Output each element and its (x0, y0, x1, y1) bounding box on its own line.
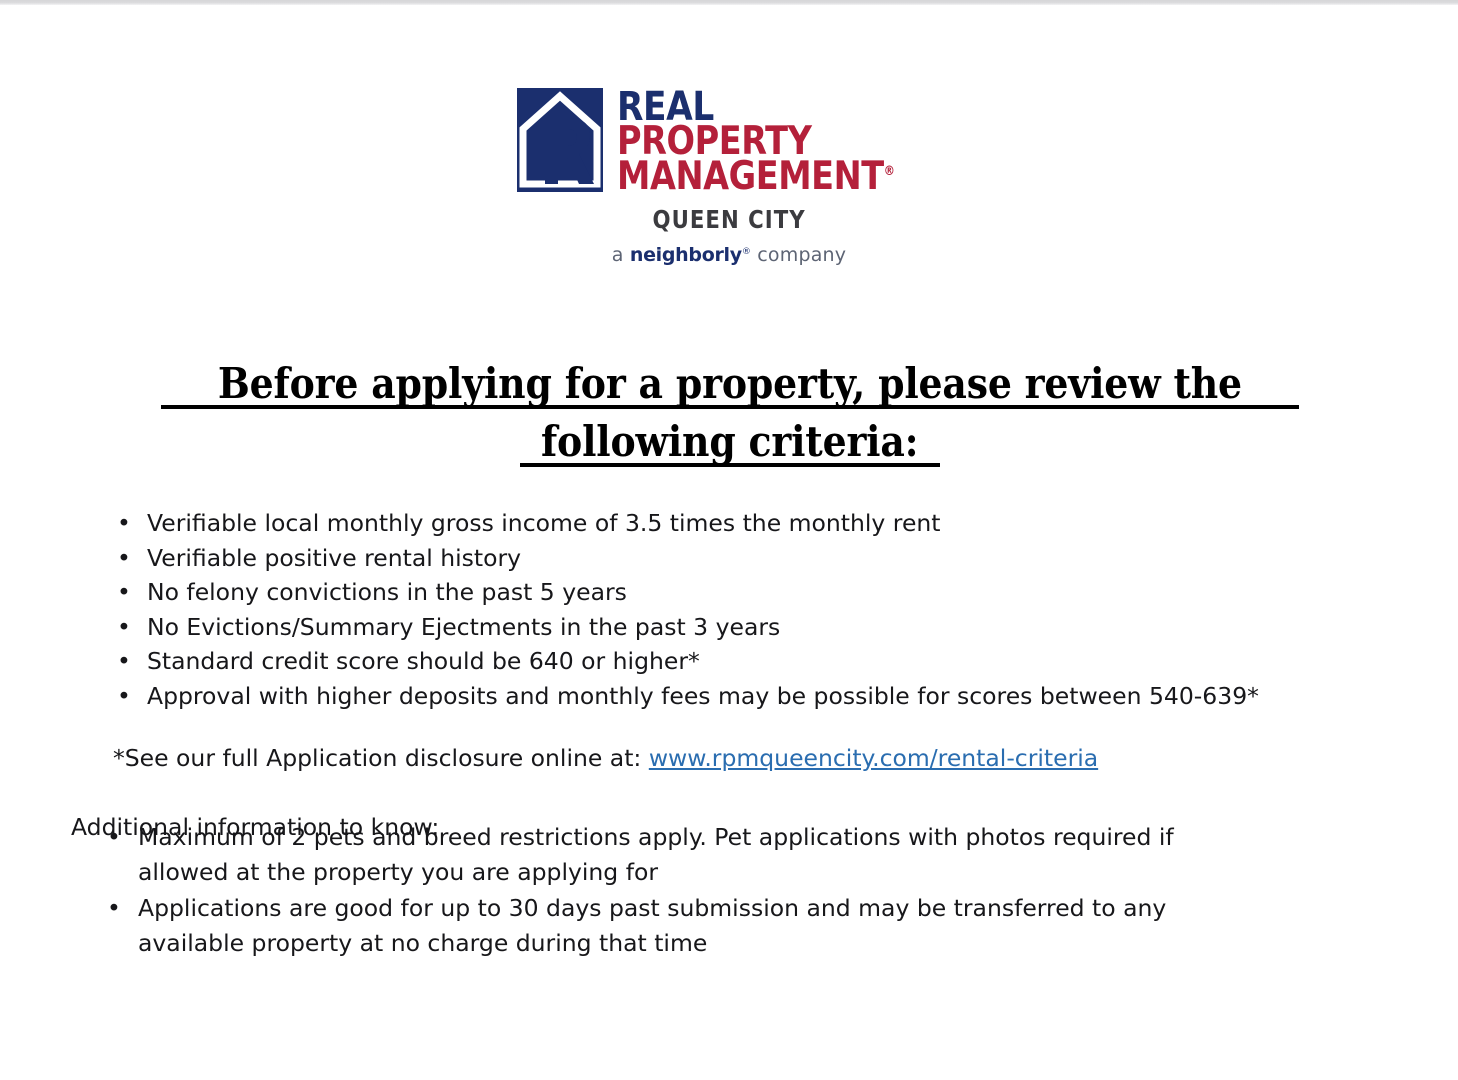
bullet-icon: • (107, 891, 121, 926)
additional-info-list: • Maximum of 2 pets and breed restrictio… (0, 820, 1330, 961)
list-item: • No Evictions/Summary Ejectments in the… (0, 610, 1330, 644)
tagline-brand: neighborly (630, 244, 742, 266)
bullet-icon: • (117, 610, 131, 644)
page-title-line-2: following criteria: (140, 413, 1320, 471)
logo-line-management: MANAGEMENT® (617, 160, 895, 194)
list-item: • Standard credit score should be 640 or… (0, 644, 1330, 678)
bullet-icon: • (117, 679, 131, 713)
list-item: • Verifiable positive rental history (0, 541, 1330, 575)
list-item-label: Verifiable positive rental history (147, 544, 521, 572)
list-item-label: Standard credit score should be 640 or h… (147, 647, 700, 675)
list-item: • Approval with higher deposits and mont… (0, 679, 1330, 713)
page-title: Before applying for a property, please r… (140, 355, 1320, 471)
logo-franchise-name: QUEEN CITY (652, 205, 805, 234)
tagline-registered-icon: ® (742, 247, 751, 257)
list-item-label: Verifiable local monthly gross income of… (147, 509, 941, 537)
logo-primary-lockup: REAL PROPERTY MANAGEMENT® (517, 88, 940, 194)
bullet-icon: • (117, 506, 131, 540)
registered-trademark-icon: ® (884, 164, 895, 179)
bullet-icon: • (107, 820, 121, 855)
logo-tagline: a neighborly® company (612, 244, 847, 266)
disclosure-text: *See our full Application disclosure onl… (113, 744, 649, 772)
criteria-list: • Verifiable local monthly gross income … (0, 506, 1330, 713)
tagline-suffix: company (751, 244, 846, 266)
house-with-r-icon (517, 88, 603, 192)
company-logo: REAL PROPERTY MANAGEMENT® QUEEN CITY a n… (0, 88, 1458, 266)
bullet-icon: • (117, 575, 131, 609)
list-item: • Maximum of 2 pets and breed restrictio… (0, 820, 1330, 890)
document-page: REAL PROPERTY MANAGEMENT® QUEEN CITY a n… (0, 5, 1458, 1080)
logo-wordmark: REAL PROPERTY MANAGEMENT® (617, 88, 940, 194)
list-item-label: Applications are good for up to 30 days … (138, 894, 1166, 957)
list-item: • Verifiable local monthly gross income … (0, 506, 1330, 540)
list-item: • Applications are good for up to 30 day… (0, 891, 1330, 961)
list-item-label: Approval with higher deposits and monthl… (147, 682, 1259, 710)
list-item-label: No Evictions/Summary Ejectments in the p… (147, 613, 780, 641)
list-item: • No felony convictions in the past 5 ye… (0, 575, 1330, 609)
page-title-line-1: Before applying for a property, please r… (140, 355, 1320, 413)
bullet-icon: • (117, 644, 131, 678)
rental-criteria-link[interactable]: www.rpmqueencity.com/rental-criteria (649, 744, 1098, 772)
disclosure-line: *See our full Application disclosure onl… (113, 741, 1098, 775)
tagline-prefix: a (612, 244, 630, 266)
list-item-label: No felony convictions in the past 5 year… (147, 578, 627, 606)
list-item-label: Maximum of 2 pets and breed restrictions… (138, 823, 1174, 886)
bullet-icon: • (117, 541, 131, 575)
